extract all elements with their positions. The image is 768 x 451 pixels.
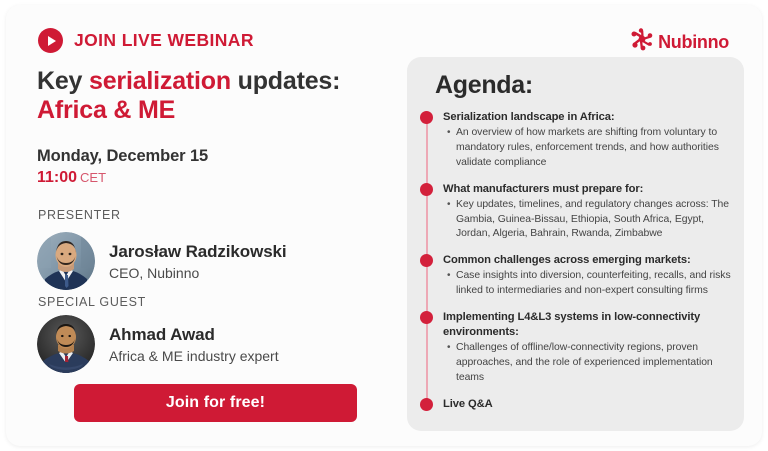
agenda-item-heading: Live Q&A — [443, 397, 732, 412]
agenda-bullet: Key updates, timelines, and regulatory c… — [456, 198, 732, 242]
agenda-title: Agenda: — [435, 71, 533, 100]
agenda-item-heading: What manufacturers must prepare for: — [443, 182, 732, 197]
webinar-timezone: CET — [80, 170, 106, 185]
agenda-bullet: Case insights into diversion, counterfei… — [456, 269, 732, 299]
brand-name: Nubinno — [658, 32, 729, 53]
main-card: JOIN LIVE WEBINAR Key serialization upda… — [6, 5, 762, 446]
agenda-bullet: An overview of how markets are shifting … — [456, 126, 732, 170]
brand-logo: Nubinno — [629, 27, 729, 58]
headline-part-2: updates: — [231, 67, 340, 95]
avatar-photo-presenter — [37, 232, 95, 290]
play-circle-icon — [38, 28, 63, 53]
agenda-panel: Agenda: Serialization landscape in Afric… — [407, 57, 744, 431]
guest-name: Ahmad Awad — [109, 325, 279, 345]
webinar-date: Monday, December 15 — [37, 147, 208, 166]
webinar-time: 11:00 — [37, 169, 77, 186]
guest-info: Ahmad Awad Africa & ME industry expert — [109, 325, 279, 364]
agenda-item: Serialization landscape in Africa:An ove… — [419, 110, 732, 171]
agenda-item-heading: Implementing L4&L3 systems in low-connec… — [443, 310, 732, 340]
agenda-item-bullets: An overview of how markets are shifting … — [443, 126, 732, 170]
headline-part-1: Key — [37, 67, 89, 95]
guest-block: Ahmad Awad Africa & ME industry expert — [37, 315, 279, 373]
molecule-node-cluster-icon — [629, 27, 655, 58]
agenda-item-bullets: Challenges of offline/low-connectivity r… — [443, 341, 732, 385]
play-triangle-icon — [48, 36, 56, 46]
left-panel: JOIN LIVE WEBINAR Key serialization upda… — [6, 5, 402, 446]
presenter-info: Jarosław Radzikowski CEO, Nubinno — [109, 242, 287, 281]
webinar-time-row: 11:00CET — [37, 169, 208, 187]
agenda-item-bullets: Case insights into diversion, counterfei… — [443, 269, 732, 299]
headline-accent-2: Africa & ME — [37, 96, 175, 124]
page-title: Key serialization updates: Africa & ME — [37, 67, 387, 126]
special-guest-label: SPECIAL GUEST — [38, 295, 146, 309]
timeline-dot-icon — [420, 311, 433, 324]
agenda-item-heading: Common challenges across emerging market… — [443, 253, 732, 268]
headline-accent-1: serialization — [89, 67, 231, 95]
agenda-timeline: Serialization landscape in Africa:An ove… — [419, 110, 732, 412]
agenda-item: Live Q&A — [419, 397, 732, 412]
agenda-item: Common challenges across emerging market… — [419, 253, 732, 299]
date-time-block: Monday, December 15 11:00CET — [37, 147, 208, 187]
live-webinar-label: JOIN LIVE WEBINAR — [74, 30, 254, 51]
presenter-label: PRESENTER — [38, 208, 121, 222]
timeline-dot-icon — [420, 254, 433, 267]
timeline-dot-icon — [420, 183, 433, 196]
avatar-photo-guest — [37, 315, 95, 373]
agenda-item: Implementing L4&L3 systems in low-connec… — [419, 310, 732, 386]
timeline-dot-icon — [420, 111, 433, 124]
webinar-promo-page: JOIN LIVE WEBINAR Key serialization upda… — [0, 0, 768, 451]
agenda-item-bullets: Key updates, timelines, and regulatory c… — [443, 198, 732, 242]
agenda-item-heading: Serialization landscape in Africa: — [443, 110, 732, 125]
join-for-free-button[interactable]: Join for free! — [74, 384, 357, 422]
timeline-dot-icon — [420, 398, 433, 411]
presenter-block: Jarosław Radzikowski CEO, Nubinno — [37, 232, 287, 290]
agenda-item: What manufacturers must prepare for:Key … — [419, 182, 732, 243]
presenter-title: CEO, Nubinno — [109, 265, 287, 281]
presenter-name: Jarosław Radzikowski — [109, 242, 287, 262]
agenda-bullet: Challenges of offline/low-connectivity r… — [456, 341, 732, 385]
live-webinar-badge: JOIN LIVE WEBINAR — [38, 28, 254, 53]
guest-title: Africa & ME industry expert — [109, 348, 279, 364]
